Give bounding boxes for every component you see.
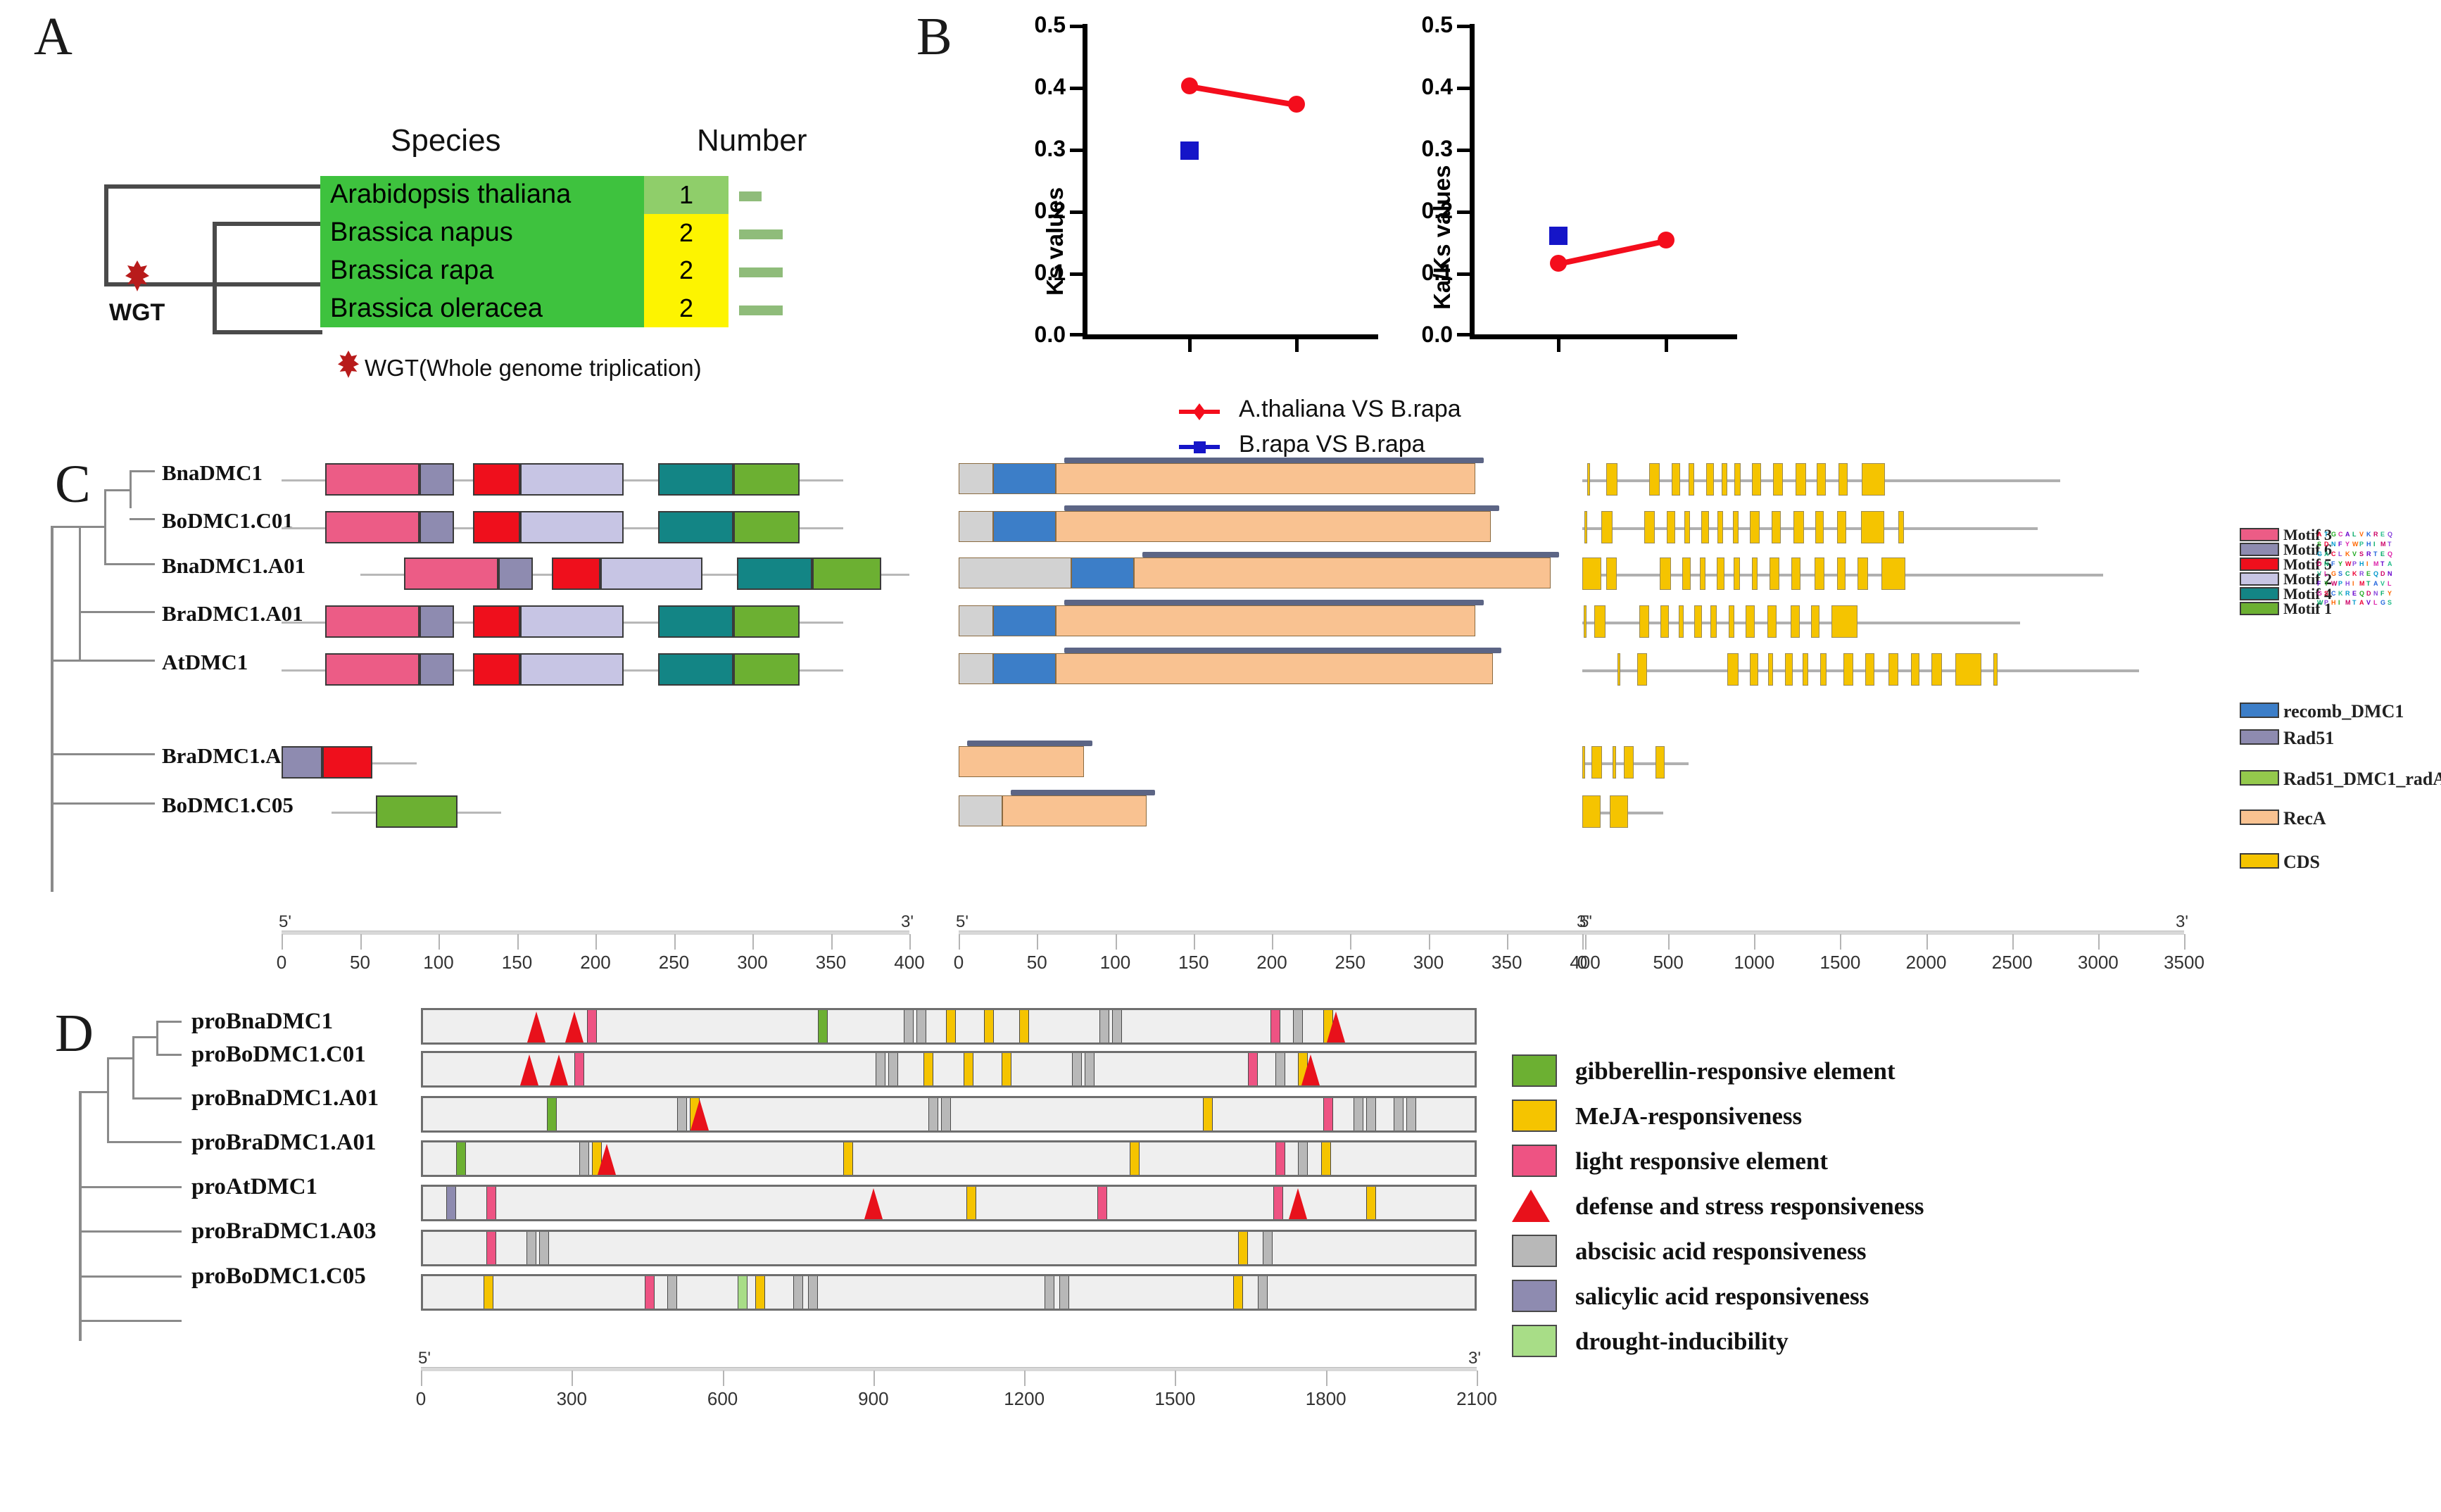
cds-block — [1637, 653, 1646, 686]
d-tree-root — [79, 1091, 82, 1341]
d-gene-label: proBnaDMC1.A01 — [191, 1085, 379, 1111]
cis-element-marker — [574, 1053, 584, 1085]
svg-text:L: L — [2373, 599, 2378, 606]
ruler-tick-label: 1500 — [1820, 952, 1861, 974]
svg-text:W: W — [2352, 541, 2359, 548]
ruler-tick-label: 150 — [502, 952, 532, 974]
cds-block — [1679, 605, 1684, 638]
motif-block — [552, 557, 600, 590]
motif-legend-swatch — [2240, 602, 2279, 615]
legend-label: defense and stress responsiveness — [1575, 1192, 1924, 1221]
svg-text:N: N — [2388, 570, 2392, 577]
cds-block — [1655, 746, 1665, 779]
d-tree-edge — [107, 1057, 109, 1143]
chart-ks: 0.5 0.4 0.3 0.2 0.1 0.0 Ks values — [1014, 14, 1380, 366]
cds-block — [1701, 511, 1709, 543]
x-tick — [1557, 336, 1560, 352]
motif-block — [376, 795, 458, 828]
svg-text:L: L — [2388, 580, 2392, 587]
ruler-tick-label: 1000 — [1734, 952, 1774, 974]
cis-element-marker — [486, 1232, 496, 1264]
x-axis-kaks — [1470, 334, 1737, 339]
svg-text:V: V — [2380, 580, 2385, 587]
cis-element-marker — [1045, 1276, 1054, 1309]
cis-element-marker — [1406, 1098, 1416, 1130]
ruler-tick — [2184, 934, 2185, 950]
protein-domain-block — [959, 746, 1084, 777]
cis-element-marker — [843, 1142, 853, 1175]
ruler-tick — [1194, 934, 1195, 950]
y-axis-title-kaks: Ka/Ks values — [1429, 165, 1456, 310]
svg-text:F: F — [2380, 590, 2385, 597]
cds-block — [1767, 605, 1777, 638]
c-tree-edge — [104, 489, 131, 491]
svg-text:E: E — [2366, 570, 2371, 577]
motif-block — [520, 653, 624, 686]
protein-domain-block — [959, 605, 993, 636]
ruler-tick — [595, 934, 597, 950]
svg-text:A: A — [2345, 531, 2350, 538]
cis-element-marker — [1059, 1276, 1069, 1309]
domain-shadow — [967, 741, 1092, 746]
motif-block — [420, 463, 454, 496]
cis-element-marker — [667, 1276, 677, 1309]
cds-block — [1838, 463, 1848, 496]
cds-block — [1684, 511, 1689, 543]
cds-block — [1624, 746, 1634, 779]
cds-block — [1606, 463, 1617, 496]
cis-element-marker — [446, 1187, 456, 1219]
y-tick-label: 0.4 — [1392, 74, 1453, 100]
ruler-tick-label: 250 — [659, 952, 689, 974]
motif-block — [325, 463, 420, 496]
cds-block — [1717, 511, 1724, 543]
cds-block — [1694, 605, 1702, 638]
tree-branch-bo — [213, 330, 322, 334]
motif-block — [737, 557, 812, 590]
legend-label: salicylic acid responsiveness — [1575, 1283, 1869, 1311]
ruler-tick — [1585, 934, 1587, 950]
ruler-tick — [959, 934, 960, 950]
ruler-tick — [1582, 934, 1584, 950]
c-gene-label: BnaDMC1 — [162, 460, 263, 486]
cis-element-marker — [808, 1276, 818, 1309]
cis-element-marker — [1203, 1098, 1213, 1130]
cis-element-marker — [818, 1010, 828, 1042]
svg-text:T: T — [2324, 531, 2328, 538]
cds-block — [1672, 463, 1680, 496]
cis-element-marker — [1248, 1053, 1258, 1085]
c-tree-edge — [51, 802, 155, 805]
ruler-bar — [421, 1367, 1477, 1371]
cis-element-marker — [1293, 1010, 1303, 1042]
cis-element-marker — [984, 1010, 994, 1042]
domain-legend-label: RecA — [2283, 808, 2326, 829]
cis-element-marker — [1263, 1232, 1273, 1264]
domain-legend-swatch — [2240, 703, 2279, 718]
cis-element-marker — [484, 1276, 493, 1309]
protein-domain-block — [959, 511, 993, 542]
svg-text:C: C — [2345, 570, 2350, 577]
legend-label: MeJA-responsiveness — [1575, 1102, 1802, 1130]
cis-element-marker — [793, 1276, 803, 1309]
ruler-tick-label: 1200 — [1004, 1388, 1045, 1410]
legend-label: drought-inducibility — [1575, 1328, 1789, 1356]
protein-domain-block — [959, 653, 993, 684]
ruler-tick-label: 500 — [1653, 952, 1683, 974]
cds-block — [1722, 463, 1728, 496]
svg-text:W: W — [2345, 560, 2352, 567]
defense-stress-marker — [598, 1144, 616, 1175]
c-tree-edge — [79, 611, 155, 613]
svg-text:R: R — [2373, 531, 2378, 538]
cis-element-marker — [1258, 1276, 1268, 1309]
d-tree-edge — [132, 1036, 158, 1038]
cds-block — [1706, 463, 1714, 496]
y-tick-label: 0.5 — [1005, 12, 1066, 38]
motif-logo-thumbnail: ATGCALVKREQ SDNFYWPHIMT GACLKVSRTEQ DNFY… — [2316, 529, 2402, 607]
d-tree-edge — [79, 1186, 182, 1188]
cds-block — [1734, 463, 1741, 496]
ruler-tick — [517, 934, 519, 950]
cds-block — [1601, 511, 1613, 543]
svg-text:V: V — [2317, 570, 2321, 577]
svg-text:Q: Q — [2388, 531, 2392, 538]
svg-text:Y: Y — [2338, 560, 2342, 567]
cis-element-marker — [526, 1232, 536, 1264]
cds-block — [1700, 557, 1705, 590]
panel-c: C BnaDMC1 BoDMC1.C01 BnaDMC1.A01 BraDMC1… — [0, 458, 2441, 1014]
ruler-tick-label: 0 — [277, 952, 286, 974]
cis-element-marker — [1085, 1053, 1095, 1085]
cds-block — [1931, 653, 1942, 686]
structure-legend-swatch — [2240, 853, 2279, 869]
five-prime-label: 5' — [956, 912, 969, 932]
svg-text:G: G — [2331, 570, 2336, 577]
svg-text:D: D — [2380, 570, 2385, 577]
cds-block — [1857, 557, 1868, 590]
svg-text:K: K — [2352, 570, 2357, 577]
cds-block — [1843, 653, 1853, 686]
defense-stress-marker — [1289, 1188, 1307, 1219]
motif-block — [420, 605, 454, 638]
five-prime-label: 5' — [1579, 912, 1592, 932]
svg-text:G: G — [2317, 590, 2322, 597]
cds-block — [1785, 653, 1793, 686]
svg-text:K: K — [2366, 531, 2371, 538]
svg-text:I: I — [2352, 580, 2354, 587]
svg-text:K: K — [2338, 590, 2343, 597]
panel-b: B 0.5 0.4 0.3 0.2 0.1 0.0 Ks values — [908, 0, 1753, 465]
protein-domain-block — [1056, 463, 1475, 494]
panel-d-letter: D — [55, 1007, 94, 1060]
cis-element-marker — [1019, 1010, 1029, 1042]
legend-swatch — [1512, 1280, 1557, 1312]
svg-text:P: P — [2338, 580, 2342, 587]
number-cell: 1 — [644, 176, 728, 214]
svg-text:S: S — [2338, 570, 2342, 577]
cds-block — [1881, 557, 1905, 590]
svg-text:Y: Y — [2388, 590, 2392, 597]
ruler-tick — [421, 1371, 422, 1386]
table-row: Brassica napus 2 — [320, 214, 728, 252]
y-tick — [1070, 149, 1085, 152]
three-prime-label: 3' — [1468, 1349, 1481, 1368]
ruler-tick-label: 200 — [580, 952, 610, 974]
d-tree-edge — [132, 1097, 182, 1100]
ruler-tick-label: 300 — [1413, 952, 1444, 974]
cds-block — [1862, 463, 1885, 496]
y-tick — [1070, 210, 1085, 214]
cis-element-marker — [587, 1010, 597, 1042]
cds-block — [1793, 511, 1804, 543]
tree-branch-outer-v — [104, 184, 108, 286]
species-cell: Brassica oleracea — [320, 289, 644, 327]
ruler-tick — [1668, 934, 1670, 950]
cis-element-marker — [1323, 1098, 1333, 1130]
svg-text:D: D — [2317, 560, 2322, 567]
motif-block — [282, 746, 322, 779]
svg-text:Y: Y — [2345, 541, 2349, 548]
svg-text:C: C — [2331, 550, 2336, 557]
motif-block — [658, 463, 733, 496]
column-header-species: Species — [391, 123, 501, 158]
svg-text:S: S — [2317, 541, 2321, 548]
ruler-tick-label: 200 — [1256, 952, 1287, 974]
d-tree-edge — [79, 1230, 182, 1233]
cis-element-marker — [928, 1098, 938, 1130]
domain-shadow — [1142, 552, 1559, 557]
svg-text:I: I — [2373, 541, 2376, 548]
svg-text:N: N — [2324, 560, 2329, 567]
svg-text:V: V — [2359, 531, 2364, 538]
d-tree-edge — [132, 1036, 134, 1100]
five-prime-label: 5' — [279, 912, 291, 932]
protein-domain-block — [959, 463, 993, 494]
cds-block — [1796, 463, 1806, 496]
count-bar — [739, 191, 762, 201]
ruler-tick — [1926, 934, 1928, 950]
svg-text:Q: Q — [2359, 590, 2364, 597]
cis-element-marker — [1366, 1187, 1376, 1219]
cds-block — [1750, 653, 1758, 686]
legend-label: gibberellin-responsive element — [1575, 1057, 1896, 1085]
y-tick-label: 0.3 — [1392, 136, 1453, 162]
svg-text:F: F — [2317, 580, 2321, 587]
cds-block — [1898, 511, 1903, 543]
protein-domain-block — [1056, 653, 1493, 684]
svg-text:L: L — [2338, 550, 2342, 557]
cds-block — [1584, 511, 1587, 543]
species-cell: Brassica rapa — [320, 252, 644, 290]
cis-element-marker — [1097, 1187, 1107, 1219]
cds-block — [1955, 653, 1981, 686]
defense-stress-marker — [520, 1054, 538, 1085]
cis-element-marker — [923, 1053, 933, 1085]
cds-block — [1582, 557, 1601, 590]
motif-legend-swatch — [2240, 557, 2279, 571]
y-tick — [1457, 272, 1472, 276]
cds-block — [1582, 795, 1601, 828]
protein-domain-block — [1002, 795, 1147, 826]
defense-stress-marker — [1301, 1054, 1320, 1085]
protein-domain-block — [993, 463, 1056, 494]
d-gene-label: proBoDMC1.C01 — [191, 1042, 366, 1068]
cis-element-marker — [486, 1187, 496, 1219]
cis-element-marker — [964, 1053, 973, 1085]
d-gene-label: proBnaDMC1 — [191, 1009, 333, 1035]
protein-domain-block — [959, 557, 1071, 588]
d-tree-edge — [79, 1091, 108, 1093]
d-tree-edge — [107, 1057, 134, 1059]
cds-block — [1660, 557, 1671, 590]
domain-shadow — [1064, 505, 1500, 511]
five-prime-label: 5' — [418, 1349, 431, 1368]
domain-legend-swatch — [2240, 809, 2279, 825]
domain-legend-label: recomb_DMC1 — [2283, 701, 2404, 722]
domain-shadow — [1064, 600, 1484, 605]
tree-branch-br — [213, 282, 322, 286]
c-tree-edge — [130, 470, 132, 508]
cds-block — [1587, 463, 1590, 496]
motif-legend-swatch — [2240, 587, 2279, 600]
ruler-tick — [1024, 1371, 1026, 1386]
cds-block — [1733, 511, 1739, 543]
ruler-tick-label: 2000 — [1906, 952, 1947, 974]
ruler-tick-label: 350 — [1491, 952, 1522, 974]
legend-swatch-triangle — [1512, 1190, 1550, 1222]
cis-element-marker — [1072, 1053, 1082, 1085]
motif-legend-swatch — [2240, 543, 2279, 556]
motif-block — [733, 463, 800, 496]
wgt-star-legend-icon — [338, 351, 359, 383]
cds-block — [1837, 511, 1846, 543]
cis-element-marker — [1394, 1098, 1404, 1130]
ruler-tick-label: 3000 — [2078, 952, 2119, 974]
svg-text:E: E — [2352, 590, 2357, 597]
motif-block — [658, 653, 733, 686]
motif-block — [733, 653, 800, 686]
wgt-node-label: WGT — [109, 299, 165, 327]
svg-text:D: D — [2366, 590, 2371, 597]
ruler-tick — [674, 934, 676, 950]
motif-block — [658, 605, 733, 638]
cis-element-marker — [1238, 1232, 1248, 1264]
ruler-tick — [439, 934, 440, 950]
tree-branch-at — [104, 184, 322, 189]
protein-domain-block — [959, 795, 1002, 826]
c-tree-edge — [79, 526, 106, 528]
ruler-tick-label: 2100 — [1456, 1388, 1497, 1410]
y-tick — [1070, 272, 1085, 276]
svg-text:S: S — [2359, 550, 2364, 557]
cds-block — [1752, 557, 1758, 590]
svg-text:G: G — [2317, 550, 2322, 557]
ruler-tick — [1326, 1371, 1327, 1386]
svg-text:A: A — [2359, 599, 2364, 606]
svg-text:H: H — [2331, 599, 2336, 606]
x-tick — [1665, 336, 1668, 352]
motif-block — [498, 557, 533, 590]
promoter-bar — [421, 1230, 1477, 1266]
species-table: Arabidopsis thaliana 1 Brassica napus 2 … — [320, 176, 728, 327]
ruler-tick-label: 300 — [557, 1388, 587, 1410]
y-tick — [1457, 333, 1472, 336]
cds-block — [1750, 511, 1759, 543]
motif-block — [520, 605, 624, 638]
svg-text:M: M — [2345, 599, 2351, 606]
y-tick — [1457, 25, 1472, 28]
ruler-tick — [1272, 934, 1273, 950]
legend-swatch — [1512, 1325, 1557, 1357]
svg-text:F: F — [2331, 560, 2335, 567]
cis-element-marker — [966, 1187, 976, 1219]
legend-label-athaliana-brapa: A.thaliana VS B.rapa — [1239, 396, 1461, 423]
y-axis-title-ks: Ks values — [1042, 187, 1068, 296]
motif-block — [733, 605, 800, 638]
d-tree-edge — [79, 1275, 182, 1278]
svg-text:T: T — [2352, 599, 2357, 606]
ruler-tick — [1116, 934, 1117, 950]
tree-branch-bn — [213, 222, 322, 226]
y-axis-ks — [1083, 24, 1087, 339]
motif-block — [600, 557, 702, 590]
motif-legend-swatch — [2240, 572, 2279, 586]
d-tree-edge — [107, 1141, 182, 1143]
svg-text:K: K — [2345, 550, 2350, 557]
column-header-number: Number — [697, 123, 807, 158]
cis-element-marker — [1298, 1142, 1308, 1175]
x-tick — [1295, 336, 1299, 352]
c-gene-label: BnaDMC1.A01 — [162, 553, 305, 579]
ruler-tick-label: 1800 — [1306, 1388, 1346, 1410]
data-point-red — [1288, 96, 1305, 113]
d-tree-edge — [156, 1021, 158, 1056]
wgt-footnote: WGT(Whole genome triplication) — [365, 355, 702, 382]
cis-element-marker — [1270, 1010, 1280, 1042]
motif-block — [473, 653, 520, 686]
count-bar — [739, 305, 783, 315]
domain-shadow — [1064, 648, 1501, 653]
ruler-tick-label: 1500 — [1155, 1388, 1196, 1410]
svg-text:Q: Q — [2373, 570, 2378, 577]
domain-legend-swatch — [2240, 770, 2279, 786]
cis-element-marker — [1002, 1053, 1011, 1085]
ruler-tick — [752, 934, 754, 950]
svg-text:W: W — [2331, 580, 2338, 587]
ruler-tick — [1350, 934, 1351, 950]
cds-block — [1865, 653, 1874, 686]
ruler-tick-label: 900 — [858, 1388, 888, 1410]
defense-stress-marker — [1327, 1012, 1345, 1042]
protein-domain-block — [1134, 557, 1551, 588]
svg-text:N: N — [2373, 590, 2378, 597]
cis-element-marker — [539, 1232, 549, 1264]
svg-text:V: V — [2366, 599, 2371, 606]
number-cell: 2 — [644, 214, 728, 252]
svg-text:H: H — [2366, 541, 2371, 548]
chart-kaks: 0.5 0.4 0.3 0.2 0.1 0.0 Ka/Ks values — [1401, 14, 1753, 366]
svg-text:A: A — [2373, 580, 2378, 587]
ruler-tick-label: 250 — [1335, 952, 1365, 974]
data-point-blue — [1549, 227, 1568, 245]
cds-block — [1582, 746, 1585, 779]
ruler-tick — [2012, 934, 2014, 950]
svg-text:Y: Y — [2324, 580, 2328, 587]
cis-element-marker — [941, 1098, 951, 1130]
table-row: Brassica oleracea 2 — [320, 289, 728, 327]
cds-block — [1649, 463, 1660, 496]
